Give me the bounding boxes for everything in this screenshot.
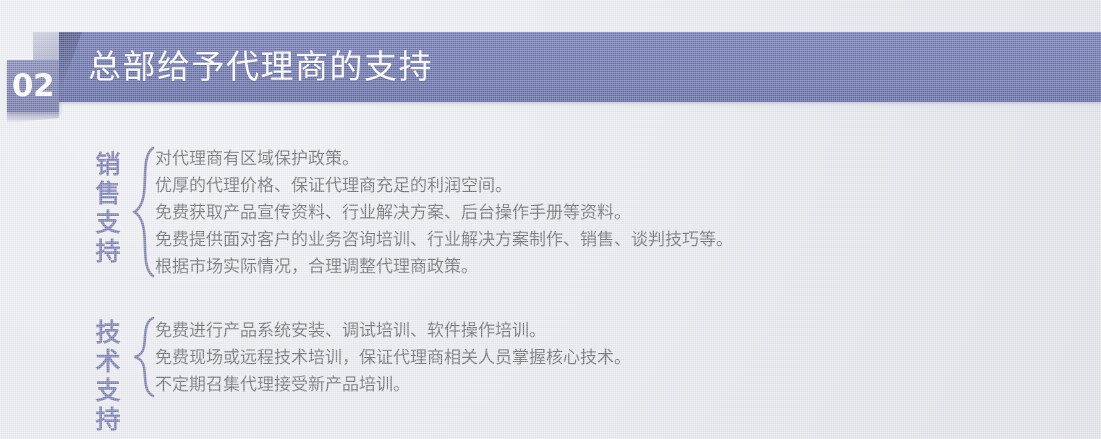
curly-brace-icon — [132, 146, 156, 278]
label-char: 持 — [92, 405, 124, 434]
label-char: 技 — [92, 318, 124, 347]
header-banner: 总部给予代理商的支持 02 — [0, 32, 1101, 104]
list-item: 免费获取产品宣传资料、行业解决方案、后台操作手册等资料。 — [155, 200, 733, 227]
number-tag-shadow — [7, 112, 59, 123]
number-tag-fold — [33, 32, 59, 62]
technical-support-list: 免费进行产品系统安装、调试培训、软件操作培训。 免费现场或远程技术培训，保证代理… — [155, 318, 631, 399]
page-title: 总部给予代理商的支持 — [88, 32, 433, 102]
curly-brace-icon — [132, 316, 156, 398]
list-item: 免费进行产品系统安装、调试培训、软件操作培训。 — [155, 318, 631, 345]
label-char: 销 — [92, 150, 124, 179]
list-item: 不定期召集代理接受新产品培训。 — [155, 372, 631, 399]
label-char: 持 — [92, 237, 124, 266]
label-char: 支 — [92, 208, 124, 237]
slide-canvas: 总部给予代理商的支持 02 销 售 支 持 对代理商有区域保护政策。 优厚的代理… — [0, 0, 1101, 439]
section-technical-support-label: 技 术 支 持 — [92, 318, 124, 434]
label-char: 支 — [92, 376, 124, 405]
list-item: 免费现场或远程技术培训，保证代理商相关人员掌握核心技术。 — [155, 345, 631, 372]
list-item: 优厚的代理价格、保证代理商充足的利润空间。 — [155, 173, 733, 200]
list-item: 根据市场实际情况，合理调整代理商政策。 — [155, 254, 733, 281]
label-char: 术 — [92, 347, 124, 376]
section-number: 02 — [7, 60, 59, 112]
list-item: 对代理商有区域保护政策。 — [155, 146, 733, 173]
list-item: 免费提供面对客户的业务咨询培训、行业解决方案制作、销售、谈判技巧等。 — [155, 227, 733, 254]
sales-support-list: 对代理商有区域保护政策。 优厚的代理价格、保证代理商充足的利润空间。 免费获取产… — [155, 146, 733, 281]
section-sales-support-label: 销 售 支 持 — [92, 150, 124, 266]
label-char: 售 — [92, 179, 124, 208]
